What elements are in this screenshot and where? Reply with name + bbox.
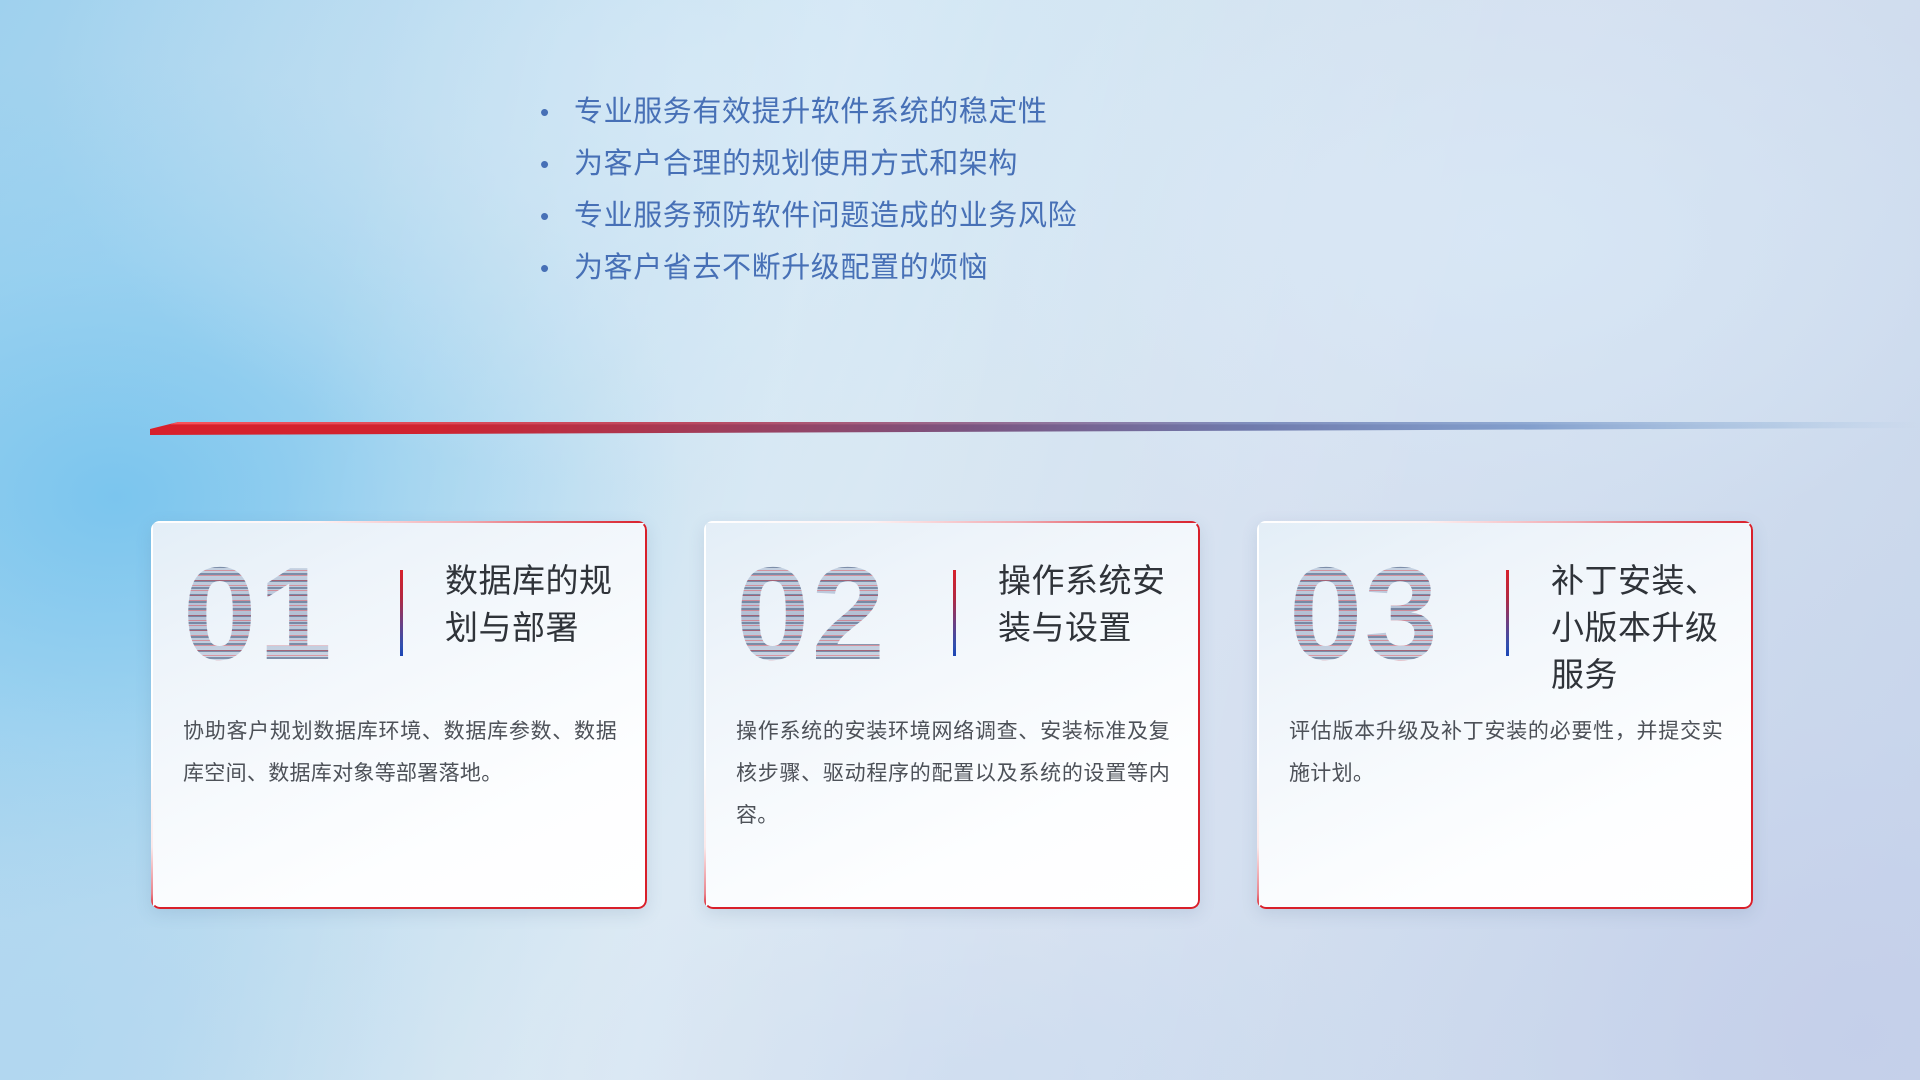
bullet-dot-icon: • — [540, 99, 574, 125]
bullet-label: 为客户省去不断升级配置的烦恼 — [574, 244, 988, 286]
bullet-item: • 专业服务有效提升软件系统的稳定性 — [540, 88, 1440, 140]
bullet-item: • 为客户合理的规划使用方式和架构 — [540, 140, 1440, 192]
card-title: 数据库的规划与部署 — [445, 557, 631, 651]
card-number-watermark: 01 — [183, 545, 383, 683]
section-divider — [150, 415, 1920, 439]
card-title-divider-icon — [953, 570, 956, 656]
service-card[interactable]: 03 03 补丁安装、小版本升级服务 评估版本升级及补丁安装的必要性，并提交实施… — [1257, 521, 1753, 909]
service-card-list: 01 01 数据库的规划与部署 协助客户规划数据库环境、数据库参数、数据库空间、… — [151, 521, 1920, 921]
divider-shape-icon — [150, 415, 1920, 439]
bullet-label: 专业服务预防软件问题造成的业务风险 — [574, 192, 1077, 234]
bullet-dot-icon: • — [540, 255, 574, 281]
bullet-label: 为客户合理的规划使用方式和架构 — [574, 140, 1018, 182]
service-card[interactable]: 01 01 数据库的规划与部署 协助客户规划数据库环境、数据库参数、数据库空间、… — [151, 521, 647, 909]
card-description: 协助客户规划数据库环境、数据库参数、数据库空间、数据库对象等部署落地。 — [183, 711, 617, 795]
benefits-bullet-list: • 专业服务有效提升软件系统的稳定性 • 为客户合理的规划使用方式和架构 • 专… — [540, 88, 1440, 296]
bullet-item: • 专业服务预防软件问题造成的业务风险 — [540, 192, 1440, 244]
card-title-divider-icon — [1506, 570, 1509, 656]
card-title: 补丁安装、小版本升级服务 — [1551, 557, 1737, 698]
bullet-dot-icon: • — [540, 203, 574, 229]
bullet-item: • 为客户省去不断升级配置的烦恼 — [540, 244, 1440, 296]
card-title: 操作系统安装与设置 — [998, 557, 1184, 651]
card-header: 02 02 操作系统安装与设置 — [704, 521, 1200, 699]
bullet-dot-icon: • — [540, 151, 574, 177]
bullet-label: 专业服务有效提升软件系统的稳定性 — [574, 88, 1048, 130]
card-description: 评估版本升级及补丁安装的必要性，并提交实施计划。 — [1289, 711, 1723, 795]
card-header: 01 01 数据库的规划与部署 — [151, 521, 647, 699]
card-number-watermark: 02 — [736, 545, 936, 683]
card-description: 操作系统的安装环境网络调查、安装标准及复核步骤、驱动程序的配置以及系统的设置等内… — [736, 711, 1170, 837]
card-title-divider-icon — [400, 570, 403, 656]
card-header: 03 03 补丁安装、小版本升级服务 — [1257, 521, 1753, 699]
card-number-watermark: 03 — [1289, 545, 1489, 683]
service-card[interactable]: 02 02 操作系统安装与设置 操作系统的安装环境网络调查、安装标准及复核步骤、… — [704, 521, 1200, 909]
